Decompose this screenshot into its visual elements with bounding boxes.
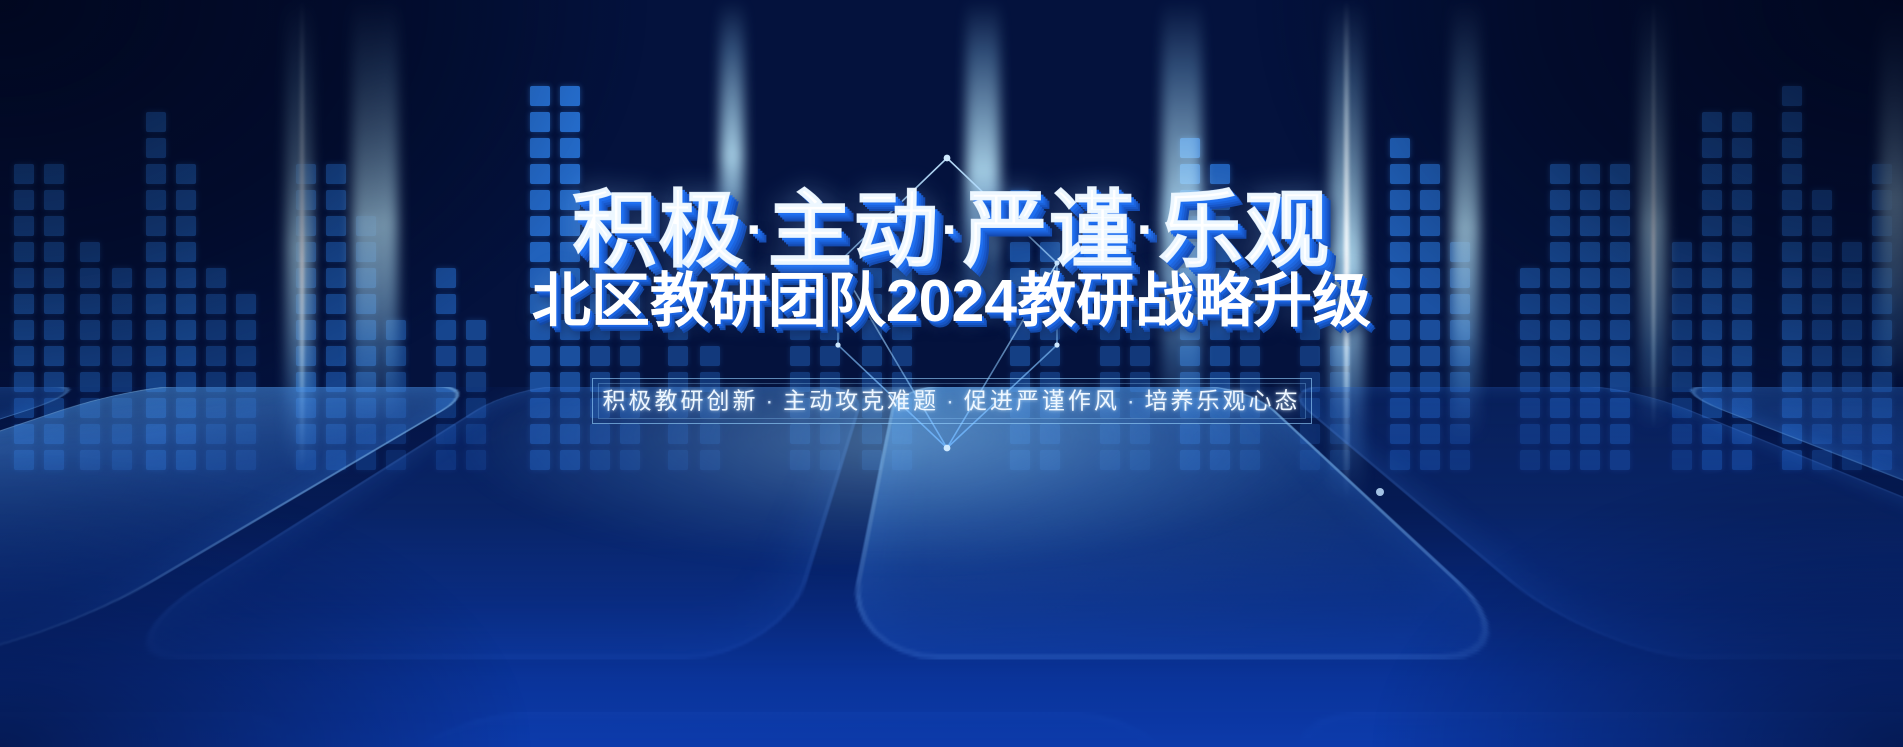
banner-headline: 积极·主动·严谨·乐观 [0, 188, 1903, 272]
tagline-item-3: 促进严谨作风 [964, 388, 1120, 414]
headline-separator-3: · [1135, 201, 1158, 259]
headline-separator-1: · [744, 201, 767, 259]
tagline-item-2: 主动攻克难题 [783, 388, 939, 414]
headline-word-4: 乐观 [1159, 183, 1331, 277]
headline-word-3: 严谨 [963, 183, 1135, 277]
banner-subtitle: 北区教研团队2024教研战略升级 [0, 272, 1903, 331]
tagline-separator-2: · [939, 388, 964, 414]
headline-word-2: 主动 [768, 183, 940, 277]
banner-tagline: 积极教研创新·主动攻克难题·促进严谨作风·培养乐观心态 [593, 390, 1311, 413]
tagline-separator-1: · [758, 388, 783, 414]
tagline-item-1: 积极教研创新 [602, 388, 758, 414]
banner-content: 积极·主动·严谨·乐观 北区教研团队2024教研战略升级 积极教研创新·主动攻克… [0, 0, 1903, 747]
headline-word-1: 积极 [572, 183, 744, 277]
tagline-frame: 积极教研创新·主动攻克难题·促进严谨作风·培养乐观心态 [592, 378, 1312, 424]
tagline-item-4: 培养乐观心态 [1145, 388, 1301, 414]
headline-separator-2: · [940, 201, 963, 259]
banner-root: 积极·主动·严谨·乐观 北区教研团队2024教研战略升级 积极教研创新·主动攻克… [0, 0, 1903, 747]
tagline-separator-3: · [1120, 388, 1145, 414]
